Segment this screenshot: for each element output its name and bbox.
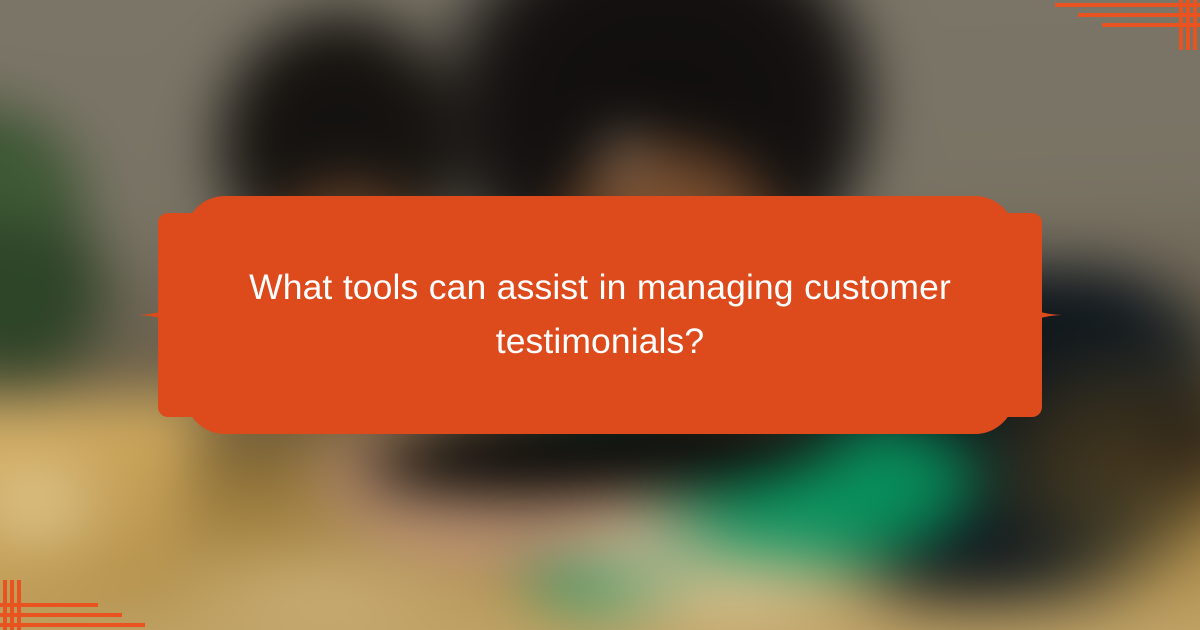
paper-sheet <box>558 527 908 630</box>
headline-banner: What tools can assist in managing custom… <box>110 196 1090 434</box>
social-card: What tools can assist in managing custom… <box>0 0 1200 630</box>
person-right-ear <box>595 130 653 181</box>
headline-text: What tools can assist in managing custom… <box>230 261 970 369</box>
paper-sheet <box>165 543 483 630</box>
